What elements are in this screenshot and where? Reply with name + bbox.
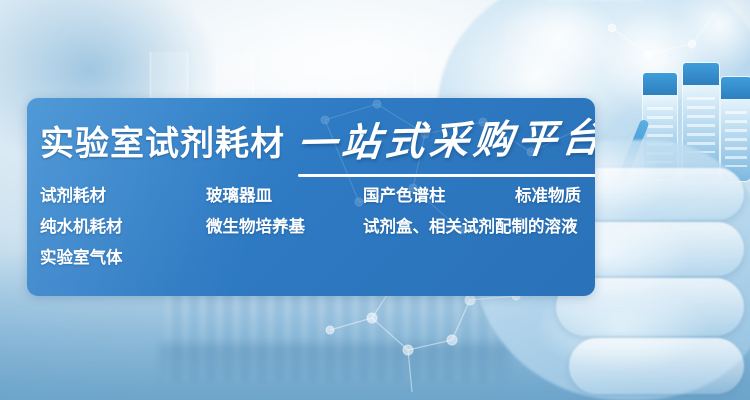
category-item-laboratory-gas[interactable]: 实验室气体 [40, 244, 123, 268]
category-item-reagent-kits-solutions[interactable]: 试剂盒、相关试剂配制的溶液 [363, 213, 578, 237]
category-item-reagent-consumables[interactable]: 试剂耗材 [40, 182, 106, 206]
category-item-domestic-chromatography-column[interactable]: 国产色谱柱 [363, 182, 446, 206]
category-row: 纯水机耗材 微生物培养基 试剂盒、相关试剂配制的溶液 [40, 213, 588, 244]
category-item-microbial-culture-media[interactable]: 微生物培养基 [206, 213, 305, 237]
headline-script: 一站式采购平台 [295, 107, 595, 169]
category-item-glassware[interactable]: 玻璃器皿 [206, 182, 272, 206]
headline-panel: 实验室试剂耗材 一站式采购平台 试剂耗材 玻璃器皿 国产色谱柱 标准物质 纯水机… [27, 98, 595, 296]
headline-underline [298, 174, 595, 177]
promo-banner: 250 APPROX. 200 150 100 50 250 GG-17 100… [0, 0, 750, 400]
category-item-water-purifier-consumables[interactable]: 纯水机耗材 [40, 213, 123, 237]
category-item-reference-material[interactable]: 标准物质 [515, 182, 581, 206]
headline-main: 实验室试剂耗材 [40, 116, 285, 165]
headline: 实验室试剂耗材 一站式采购平台 [40, 112, 585, 172]
category-row: 实验室气体 [40, 244, 588, 275]
category-list: 试剂耗材 玻璃器皿 国产色谱柱 标准物质 纯水机耗材 微生物培养基 试剂盒、相关… [40, 182, 588, 275]
category-row: 试剂耗材 玻璃器皿 国产色谱柱 标准物质 [40, 182, 588, 213]
